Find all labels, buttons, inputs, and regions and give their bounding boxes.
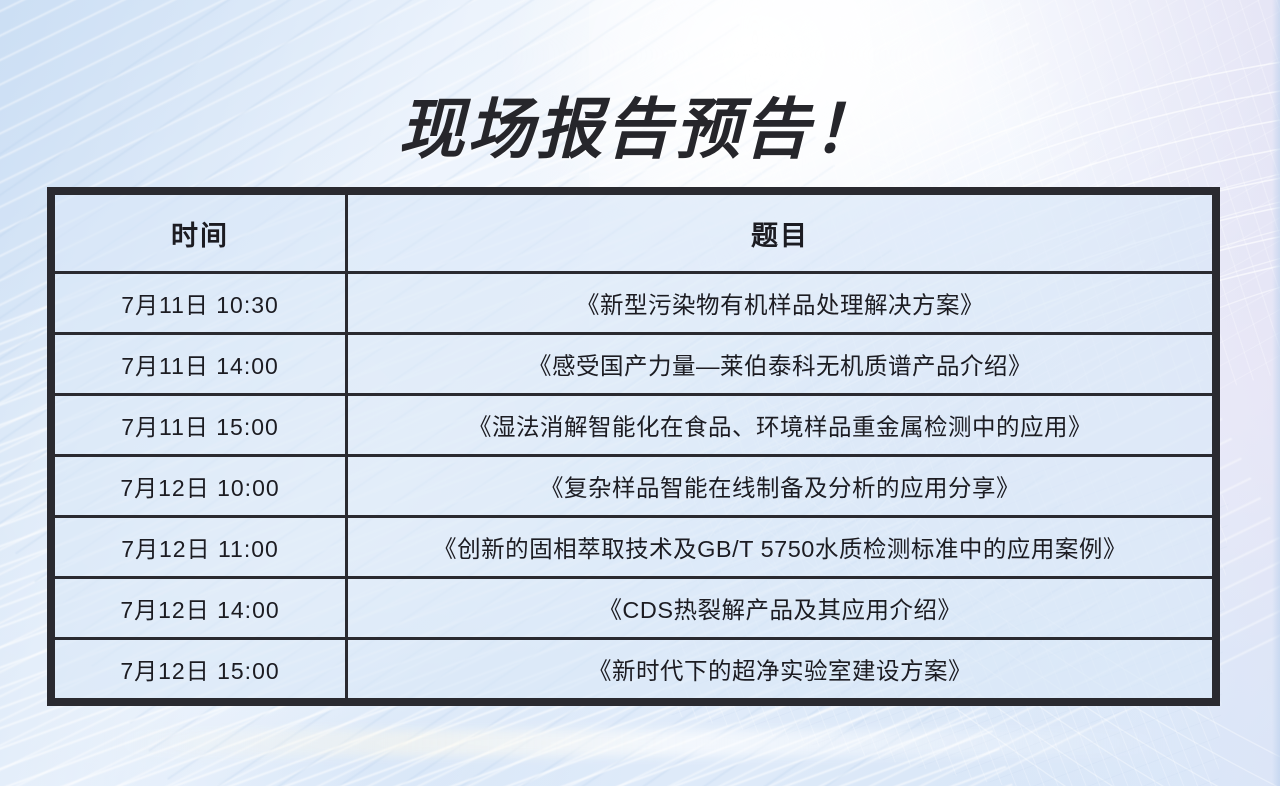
table-row: 7月12日 15:00《新时代下的超净实验室建设方案》: [54, 639, 1214, 700]
page-title: 现场报告预告！: [0, 96, 1280, 162]
table-row: 7月11日 10:30《新型污染物有机样品处理解决方案》: [54, 273, 1214, 334]
column-header-time: 时间: [54, 194, 347, 273]
schedule-table-head: 时间 题目: [54, 194, 1214, 273]
poster-canvas: 现场报告预告！ 时间 题目 7月11日 10:30《新型污染物有机样品处理解决方…: [0, 0, 1280, 786]
table-row: 7月12日 10:00《复杂样品智能在线制备及分析的应用分享》: [54, 456, 1214, 517]
table-header-row: 时间 题目: [54, 194, 1214, 273]
poster-content: 现场报告预告！ 时间 题目 7月11日 10:30《新型污染物有机样品处理解决方…: [0, 0, 1280, 786]
cell-time: 7月12日 10:00: [54, 456, 347, 517]
cell-time: 7月11日 14:00: [54, 334, 347, 395]
cell-topic: 《感受国产力量—莱伯泰科无机质谱产品介绍》: [347, 334, 1214, 395]
cell-time: 7月12日 11:00: [54, 517, 347, 578]
cell-topic: 《新时代下的超净实验室建设方案》: [347, 639, 1214, 700]
table-row: 7月12日 14:00《CDS热裂解产品及其应用介绍》: [54, 578, 1214, 639]
table-row: 7月11日 14:00《感受国产力量—莱伯泰科无机质谱产品介绍》: [54, 334, 1214, 395]
cell-time: 7月11日 10:30: [54, 273, 347, 334]
schedule-table: 时间 题目 7月11日 10:30《新型污染物有机样品处理解决方案》7月11日 …: [52, 192, 1215, 701]
column-header-topic: 题目: [347, 194, 1214, 273]
cell-topic: 《创新的固相萃取技术及GB/T 5750水质检测标准中的应用案例》: [347, 517, 1214, 578]
table-row: 7月11日 15:00《湿法消解智能化在食品、环境样品重金属检测中的应用》: [54, 395, 1214, 456]
table-row: 7月12日 11:00《创新的固相萃取技术及GB/T 5750水质检测标准中的应…: [54, 517, 1214, 578]
cell-topic: 《湿法消解智能化在食品、环境样品重金属检测中的应用》: [347, 395, 1214, 456]
cell-time: 7月12日 15:00: [54, 639, 347, 700]
cell-topic: 《新型污染物有机样品处理解决方案》: [347, 273, 1214, 334]
cell-time: 7月11日 15:00: [54, 395, 347, 456]
cell-topic: 《复杂样品智能在线制备及分析的应用分享》: [347, 456, 1214, 517]
cell-topic: 《CDS热裂解产品及其应用介绍》: [347, 578, 1214, 639]
schedule-table-body: 7月11日 10:30《新型污染物有机样品处理解决方案》7月11日 14:00《…: [54, 273, 1214, 700]
cell-time: 7月12日 14:00: [54, 578, 347, 639]
